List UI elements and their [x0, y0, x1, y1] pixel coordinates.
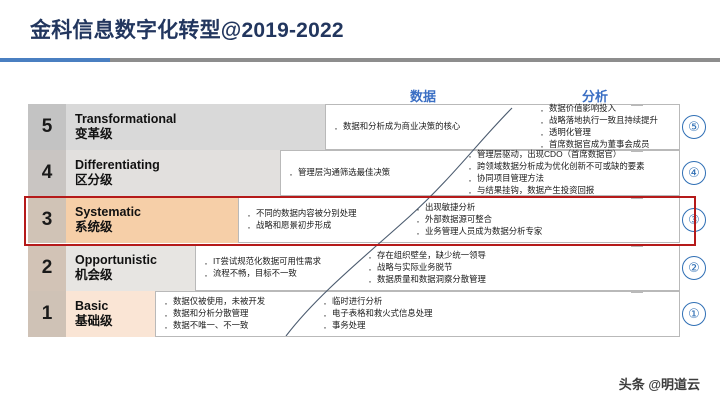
data-bullet: 数据仅被使用，未被开发 — [162, 296, 317, 308]
connector-line-5 — [631, 105, 643, 106]
column-header-data: 数据 — [368, 86, 478, 105]
content-box-1: 数据仅被使用，未被开发 数据和分析分散管理 数据不唯一、不一致 临时进行分析 电… — [155, 291, 680, 337]
analysis-bullet: 出现敏捷分析 — [414, 202, 679, 214]
analysis-bullet: 透明化管理 — [538, 127, 680, 139]
level-number-3: 3 — [28, 197, 66, 243]
level-label-4: Differentiating 区分级 — [66, 150, 170, 196]
analysis-bullet: 事务处理 — [321, 320, 681, 332]
level-name-en-3: Systematic — [75, 205, 170, 220]
analysis-cell-4: 管理层驱动，出现CDO（首席数据官） 跨领域数据分析成为优化创新不可或缺的要素 … — [466, 151, 681, 195]
analysis-bullet: 跨领域数据分析成为优化创新不可或缺的要素 — [466, 161, 681, 173]
matrix-row-level-3[interactable]: 3 Systematic 系统级 不同的数据内容被分别处理 战略和愿景初步形成 … — [0, 197, 720, 243]
level-tint-4 — [170, 150, 280, 196]
data-bullet: 流程不畅，目标不一致 — [202, 268, 362, 280]
analysis-bullet: 存在组织壁垒，缺少统一领导 — [366, 250, 681, 262]
data-bullet: 不同的数据内容被分别处理 — [245, 208, 410, 220]
connector-line-1 — [631, 292, 643, 293]
level-tint-5 — [170, 104, 325, 150]
analysis-bullet: 协同项目管理方法 — [466, 173, 681, 185]
column-header-analysis: 分析 — [540, 86, 650, 105]
analysis-bullet: 战略落地执行一致且持续提升 — [538, 115, 680, 127]
level-circle-4: ④ — [682, 161, 706, 185]
accent-bar-blue — [0, 58, 110, 62]
data-bullet: 数据不唯一、不一致 — [162, 320, 317, 332]
level-name-zh-2: 机会级 — [75, 268, 170, 283]
analysis-bullet: 外部数据源可整合 — [414, 214, 679, 226]
matrix-row-level-1[interactable]: 1 Basic 基础级 数据仅被使用，未被开发 数据和分析分散管理 数据不唯一、… — [0, 291, 720, 337]
level-number-5: 5 — [28, 104, 66, 150]
level-label-5: Transformational 变革级 — [66, 104, 170, 150]
content-box-3: 不同的数据内容被分别处理 战略和愿景初步形成 出现敏捷分析 外部数据源可整合 业… — [238, 197, 680, 243]
analysis-bullet: 临时进行分析 — [321, 296, 681, 308]
maturity-matrix: 5 Transformational 变革级 数据和分析成为商业决策的核心 数据… — [0, 104, 720, 336]
level-name-en-4: Differentiating — [75, 158, 170, 173]
level-tint-2 — [170, 245, 195, 291]
analysis-bullet: 战略与实际业务脱节 — [366, 262, 681, 274]
data-bullet: IT尝试规范化数据可用性需求 — [202, 256, 362, 268]
level-circle-2: ② — [682, 256, 706, 280]
analysis-bullet: 数据价值影响投入 — [538, 103, 680, 115]
level-label-2: Opportunistic 机会级 — [66, 245, 170, 291]
page-header: 金科信息数字化转型@2019-2022 — [0, 0, 720, 66]
level-circle-5: ⑤ — [682, 115, 706, 139]
connector-line-2 — [631, 246, 643, 247]
matrix-row-level-2[interactable]: 2 Opportunistic 机会级 IT尝试规范化数据可用性需求 流程不畅，… — [0, 245, 720, 291]
matrix-row-level-5[interactable]: 5 Transformational 变革级 数据和分析成为商业决策的核心 数据… — [0, 104, 720, 150]
content-box-4: 管理层沟通筛选最佳决策 管理层驱动，出现CDO（首席数据官） 跨领域数据分析成为… — [280, 150, 680, 196]
level-number-2: 2 — [28, 245, 66, 291]
analysis-cell-3: 出现敏捷分析 外部数据源可整合 业务管理人员成为数据分析专家 — [414, 198, 679, 242]
connector-line-3 — [631, 198, 643, 199]
level-name-en-5: Transformational — [75, 112, 170, 127]
analysis-bullet: 数据质量和数据洞察分散管理 — [366, 274, 681, 286]
data-cell-3: 不同的数据内容被分别处理 战略和愿景初步形成 — [245, 198, 410, 242]
level-circle-3: ③ — [682, 208, 706, 232]
data-bullet: 数据和分析成为商业决策的核心 — [332, 121, 532, 133]
analysis-bullet: 管理层驱动，出现CDO（首席数据官） — [466, 149, 681, 161]
page-title: 金科信息数字化转型@2019-2022 — [30, 14, 344, 44]
analysis-cell-2: 存在组织壁垒，缺少统一领导 战略与实际业务脱节 数据质量和数据洞察分散管理 — [366, 246, 681, 290]
level-name-en-2: Opportunistic — [75, 253, 170, 268]
content-box-5: 数据和分析成为商业决策的核心 数据价值影响投入 战略落地执行一致且持续提升 透明… — [325, 104, 680, 150]
level-number-1: 1 — [28, 291, 66, 337]
analysis-bullet: 与结果挂钩，数据产生投资回报 — [466, 185, 681, 197]
level-label-3: Systematic 系统级 — [66, 197, 170, 243]
level-number-4: 4 — [28, 150, 66, 196]
level-name-zh-5: 变革级 — [75, 127, 170, 142]
data-bullet: 数据和分析分散管理 — [162, 308, 317, 320]
level-tint-3 — [170, 197, 238, 243]
data-bullet: 管理层沟通筛选最佳决策 — [287, 167, 462, 179]
analysis-bullet: 电子表格和救火式信息处理 — [321, 308, 681, 320]
analysis-cell-5: 数据价值影响投入 战略落地执行一致且持续提升 透明化管理 首席数据官成为董事会成… — [538, 105, 680, 149]
content-box-2: IT尝试规范化数据可用性需求 流程不畅，目标不一致 存在组织壁垒，缺少统一领导 … — [195, 245, 680, 291]
level-circle-1: ① — [682, 302, 706, 326]
matrix-row-level-4[interactable]: 4 Differentiating 区分级 管理层沟通筛选最佳决策 管理层驱动，… — [0, 150, 720, 196]
level-name-zh-4: 区分级 — [75, 173, 170, 188]
data-cell-2: IT尝试规范化数据可用性需求 流程不畅，目标不一致 — [202, 246, 362, 290]
analysis-bullet: 业务管理人员成为数据分析专家 — [414, 226, 679, 238]
data-cell-4: 管理层沟通筛选最佳决策 — [287, 151, 462, 195]
connector-line-4 — [631, 151, 643, 152]
data-cell-1: 数据仅被使用，未被开发 数据和分析分散管理 数据不唯一、不一致 — [162, 292, 317, 336]
data-cell-5: 数据和分析成为商业决策的核心 — [332, 105, 532, 149]
watermark: 头条 @明道云 — [619, 374, 700, 393]
level-name-zh-3: 系统级 — [75, 220, 170, 235]
analysis-cell-1: 临时进行分析 电子表格和救火式信息处理 事务处理 — [321, 292, 681, 336]
data-bullet: 战略和愿景初步形成 — [245, 220, 410, 232]
